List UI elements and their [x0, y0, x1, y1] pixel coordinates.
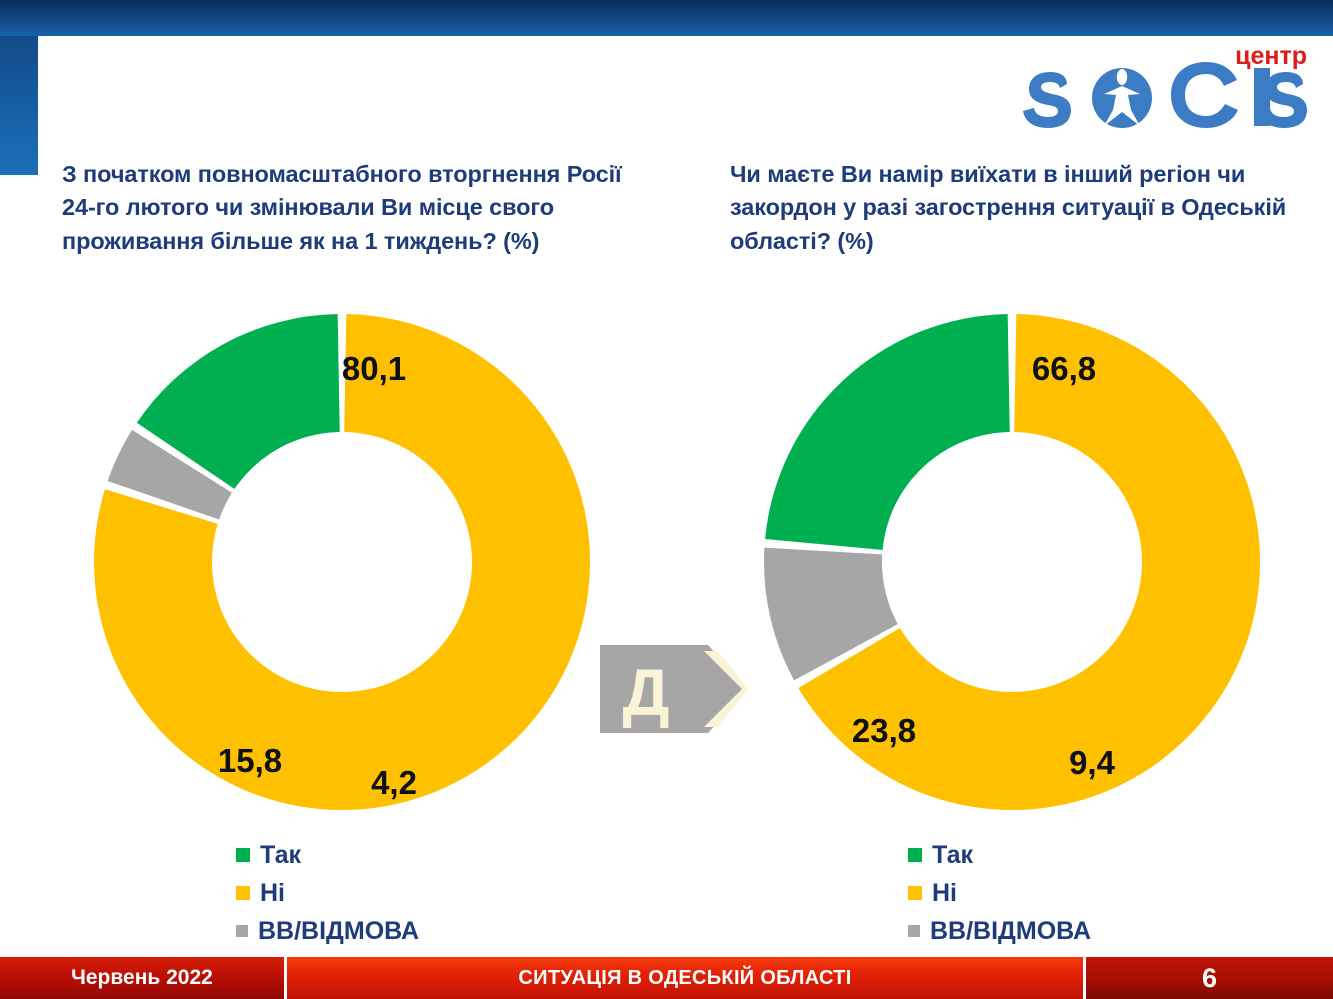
footer-subject: СИТУАЦІЯ В ОДЕСЬКІЙ ОБЛАСТІ: [284, 957, 1086, 999]
slice-label-refusal-right: 9,4: [1069, 744, 1116, 781]
donut-chart-left: 80,1 15,8 4,2: [62, 282, 622, 842]
slice-label-refusal-left: 4,2: [371, 764, 417, 801]
legend-swatch-refusal: [236, 925, 248, 937]
legend-label-yes: Так: [932, 841, 973, 870]
legend-item-yes: Так: [236, 836, 419, 874]
legend-label-no: Ні: [260, 879, 285, 908]
legend-item-refusal: ВВ/ВІДМОВА: [908, 912, 1091, 950]
legend-swatch-refusal: [908, 925, 920, 937]
legend-label-no: Ні: [932, 879, 957, 908]
question-title-right: Чи маєте Ви намір виїхати в інший регіон…: [730, 158, 1290, 258]
footer-page-number: 6: [1086, 957, 1333, 999]
top-accent-bar: [0, 0, 1333, 36]
logo-sub-text: центр: [1235, 42, 1307, 70]
footer-bar: Червень 2022 СИТУАЦІЯ В ОДЕСЬКІЙ ОБЛАСТІ…: [0, 957, 1333, 999]
legend-swatch-yes: [236, 848, 250, 862]
legend-swatch-no: [236, 886, 250, 900]
legend-label-yes: Так: [260, 841, 301, 870]
donut-chart-right: 66,8 23,8 9,4: [732, 282, 1292, 842]
footer-date: Червень 2022: [0, 957, 284, 999]
slice-label-yes-left: 15,8: [218, 742, 282, 779]
badge-letter: Д: [622, 655, 669, 729]
legend-left: Так Ні ВВ/ВІДМОВА: [236, 836, 419, 950]
slice-label-no-left: 80,1: [342, 350, 406, 387]
legend-item-refusal: ВВ/ВІДМОВА: [236, 912, 419, 950]
legend-swatch-no: [908, 886, 922, 900]
slice-label-no-right: 66,8: [1032, 350, 1096, 387]
left-accent-bar: [0, 36, 38, 175]
legend-label-refusal: ВВ/ВІДМОВА: [930, 917, 1091, 946]
legend-swatch-yes: [908, 848, 922, 862]
legend-item-no: Ні: [908, 874, 1091, 912]
legend-item-yes: Так: [908, 836, 1091, 874]
slice-label-yes-right: 23,8: [852, 712, 916, 749]
socis-logo: центр: [1021, 38, 1311, 138]
question-title-left: З початком повномасштабного вторгнення Р…: [62, 158, 652, 258]
legend-label-refusal: ВВ/ВІДМОВА: [258, 917, 419, 946]
legend-item-no: Ні: [236, 874, 419, 912]
legend-right: Так Ні ВВ/ВІДМОВА: [908, 836, 1091, 950]
vitruvian-o-icon: [1092, 68, 1152, 128]
chevron-badge: Д: [600, 645, 748, 733]
